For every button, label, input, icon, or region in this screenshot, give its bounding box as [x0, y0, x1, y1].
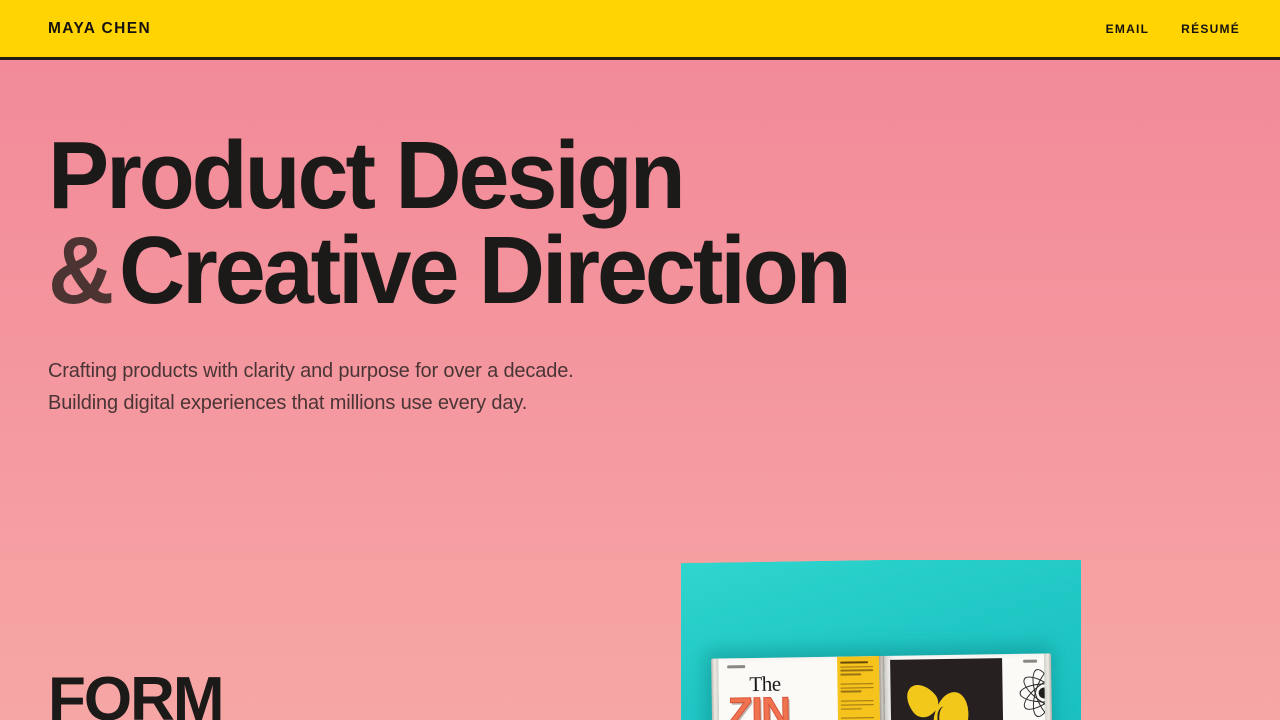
magazine-photo: The ZIN — [681, 560, 1081, 720]
sidebar-text-rule — [840, 674, 862, 676]
nav-link-email[interactable]: EMAIL — [1106, 23, 1150, 35]
sidebar-text-rule — [840, 670, 873, 672]
page-root: MAYA CHEN EMAIL RÉSUMÉ Product Design &C… — [0, 0, 1280, 720]
sidebar-text-rule — [840, 691, 862, 693]
droplet-shape-icon — [931, 689, 973, 720]
sidebar-spacer — [840, 677, 876, 681]
section-heading-form: FORM — [48, 669, 223, 720]
hero-subtitle-line-1: Crafting products with clarity and purpo… — [48, 355, 574, 387]
sidebar-spacer — [840, 694, 876, 698]
sidebar-text-rule — [840, 717, 873, 719]
site-header: MAYA CHEN EMAIL RÉSUMÉ — [0, 0, 1280, 60]
hero-subtitle-line-2: Building digital experiences that millio… — [48, 387, 574, 419]
sidebar-text-rule — [840, 700, 873, 702]
right-page-content — [1002, 653, 1046, 720]
magazine-left-page: The ZIN — [718, 656, 880, 720]
page-number-rule — [1023, 660, 1037, 663]
atom-diagram-icon — [1018, 667, 1046, 718]
hero-subtitle: Crafting products with clarity and purpo… — [48, 355, 574, 419]
sidebar-text-rule — [840, 666, 873, 668]
nav-link-resume[interactable]: RÉSUMÉ — [1181, 23, 1240, 35]
sidebar-headline-rule — [840, 661, 869, 663]
headline-line-1: Product Design — [48, 128, 849, 223]
site-logo[interactable]: MAYA CHEN — [48, 21, 151, 37]
magazine-photo-inner: The ZIN — [681, 560, 1081, 720]
sidebar-spacer — [840, 712, 876, 716]
left-page-kicker — [727, 665, 745, 668]
sidebar-text-rule — [840, 687, 873, 689]
left-page-content: The ZIN — [718, 657, 838, 720]
atom-nucleus — [1039, 687, 1046, 698]
left-page-yellow-sidebar — [837, 656, 881, 720]
headline-ampersand: & — [48, 217, 119, 324]
open-magazine: The ZIN — [711, 653, 1053, 720]
sidebar-text-rule — [840, 683, 873, 685]
magazine-right-page — [884, 653, 1046, 720]
headline-line-2-text: Creative Direction — [119, 217, 849, 324]
right-page-dark-panel — [890, 658, 1003, 720]
headline-line-2: &Creative Direction — [48, 223, 849, 318]
hero-headline: Product Design &Creative Direction — [48, 128, 886, 318]
primary-nav: EMAIL RÉSUMÉ — [1106, 23, 1240, 35]
magazine-title-display: ZIN — [728, 694, 835, 720]
sidebar-text-rule — [840, 704, 873, 706]
sidebar-text-rule — [840, 708, 862, 710]
